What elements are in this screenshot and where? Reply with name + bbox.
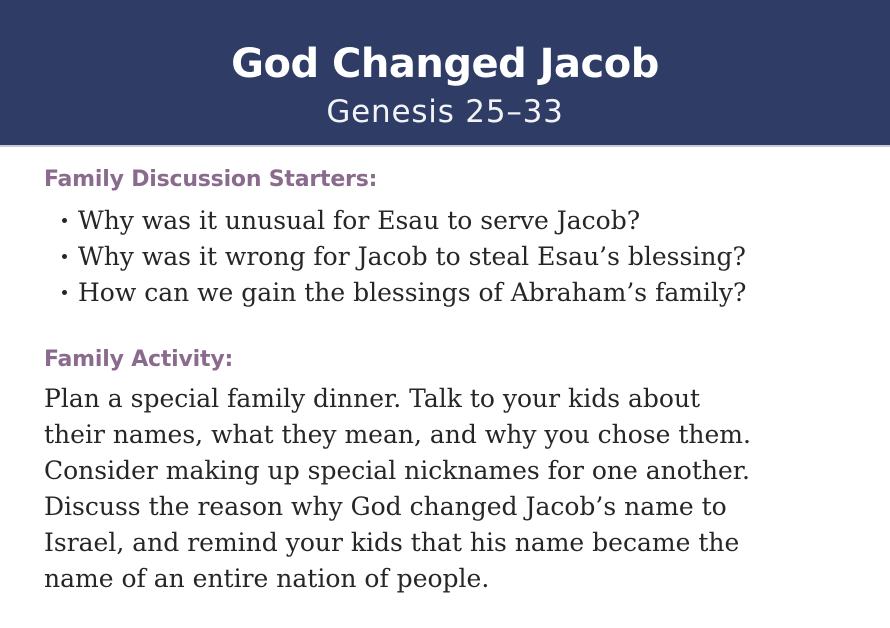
discussion-question-text: How can we gain the blessings of Abraham… [78, 278, 746, 307]
family-activity-heading: Family Activity: [44, 349, 846, 371]
list-item: Why was it unusual for Esau to serve Jac… [44, 203, 846, 239]
discussion-question-text: Why was it unusual for Esau to serve Jac… [78, 206, 640, 235]
content-area: Family Discussion Starters: Why was it u… [0, 147, 890, 628]
bullet-dot-icon [62, 254, 67, 259]
family-activity-paragraph: Plan a special family dinner. Talk to yo… [44, 381, 844, 597]
bullet-dot-icon [62, 290, 67, 295]
paragraph-line: Consider making up special nicknames for… [44, 453, 844, 489]
page-title: God Changed Jacob [231, 44, 659, 84]
worksheet-page: God Changed Jacob Genesis 25–33 Family D… [0, 0, 890, 628]
bullet-dot-icon [62, 218, 67, 223]
paragraph-line: Plan a special family dinner. Talk to yo… [44, 381, 844, 417]
discussion-starters-heading: Family Discussion Starters: [44, 169, 846, 191]
discussion-question-text: Why was it wrong for Jacob to steal Esau… [78, 242, 746, 271]
list-item: How can we gain the blessings of Abraham… [44, 275, 846, 311]
paragraph-line: name of an entire nation of people. [44, 561, 844, 597]
paragraph-line: Discuss the reason why God changed Jacob… [44, 489, 844, 525]
list-item: Why was it wrong for Jacob to steal Esau… [44, 239, 846, 275]
header-band: God Changed Jacob Genesis 25–33 [0, 0, 890, 145]
discussion-question-list: Why was it unusual for Esau to serve Jac… [44, 203, 846, 311]
paragraph-line: Israel, and remind your kids that his na… [44, 525, 844, 561]
scripture-reference: Genesis 25–33 [326, 97, 563, 128]
paragraph-line: their names, what they mean, and why you… [44, 417, 844, 453]
family-activity-section: Family Activity: Plan a special family d… [44, 349, 846, 597]
